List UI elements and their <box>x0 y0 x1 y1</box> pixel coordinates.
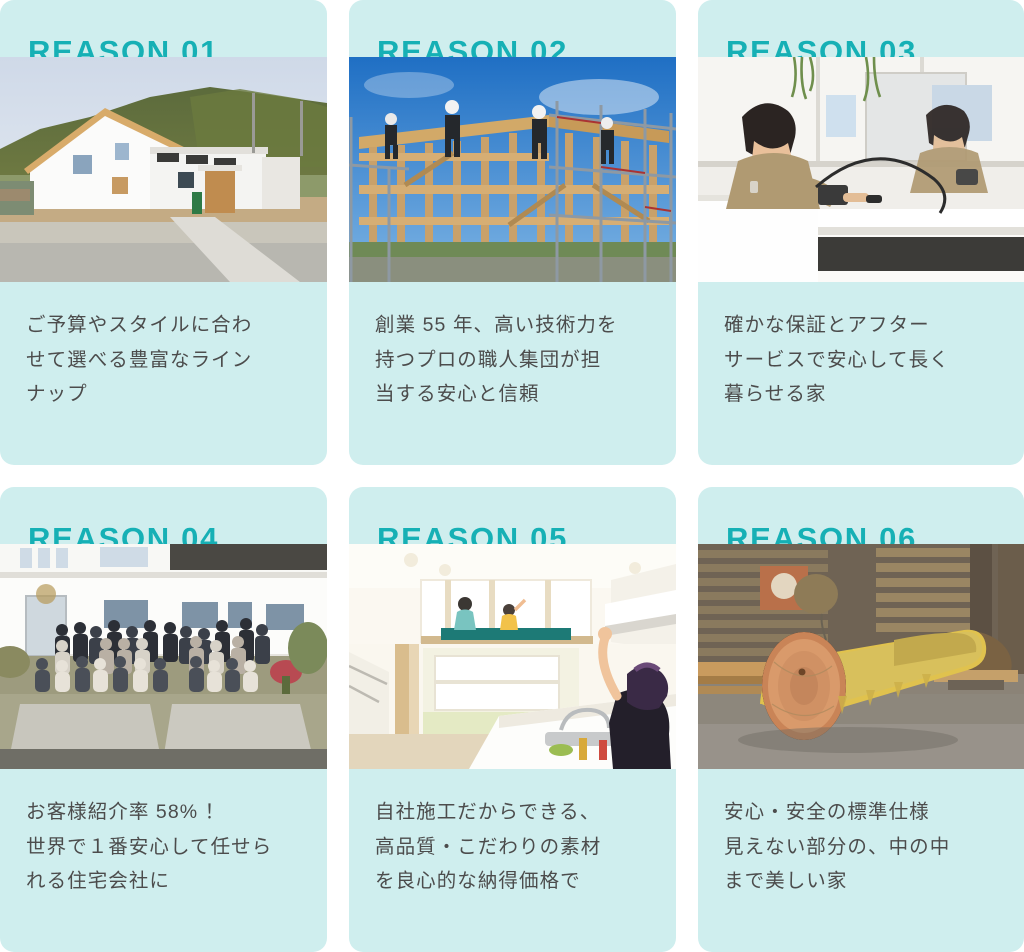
card-caption: ご予算やスタイルに合わ せて選べる豊富なライン ナップ <box>0 282 327 465</box>
card-photo-living-room-interior <box>349 544 676 769</box>
card-title: REASON 05 <box>349 487 676 544</box>
reasons-grid: REASON 01 <box>0 0 1024 952</box>
card-caption: 創業 55 年、高い技術力を 持つプロの職人集団が担 当する安心と信頼 <box>349 282 676 465</box>
card-caption: 安心・安全の標準仕様 見えない部分の、中の中 まで美しい家 <box>698 769 1024 952</box>
reason-card-02[interactable]: REASON 02 <box>349 0 676 465</box>
card-photo-construction-framing <box>349 57 676 282</box>
card-caption: 自社施工だからできる、 高品質・こだわりの素材 を良心的な納得価格で <box>349 769 676 952</box>
card-photo-technician-inspection <box>698 57 1024 282</box>
card-photo-timber-log <box>698 544 1024 769</box>
card-title: REASON 02 <box>349 0 676 57</box>
card-photo-staff-group <box>0 544 327 769</box>
card-title: REASON 01 <box>0 0 327 57</box>
card-title: REASON 03 <box>698 0 1024 57</box>
card-photo-house-exterior <box>0 57 327 282</box>
card-caption: お客様紹介率 58% ！ 世界で１番安心して任せら れる住宅会社に <box>0 769 327 952</box>
reason-card-03[interactable]: REASON 03 <box>698 0 1024 465</box>
reason-card-01[interactable]: REASON 01 <box>0 0 327 465</box>
reason-card-06[interactable]: REASON 06 <box>698 487 1024 952</box>
card-title: REASON 04 <box>0 487 327 544</box>
card-caption: 確かな保証とアフター サービスで安心して長く 暮らせる家 <box>698 282 1024 465</box>
reason-card-04[interactable]: REASON 04 <box>0 487 327 952</box>
card-title: REASON 06 <box>698 487 1024 544</box>
reason-card-05[interactable]: REASON 05 <box>349 487 676 952</box>
